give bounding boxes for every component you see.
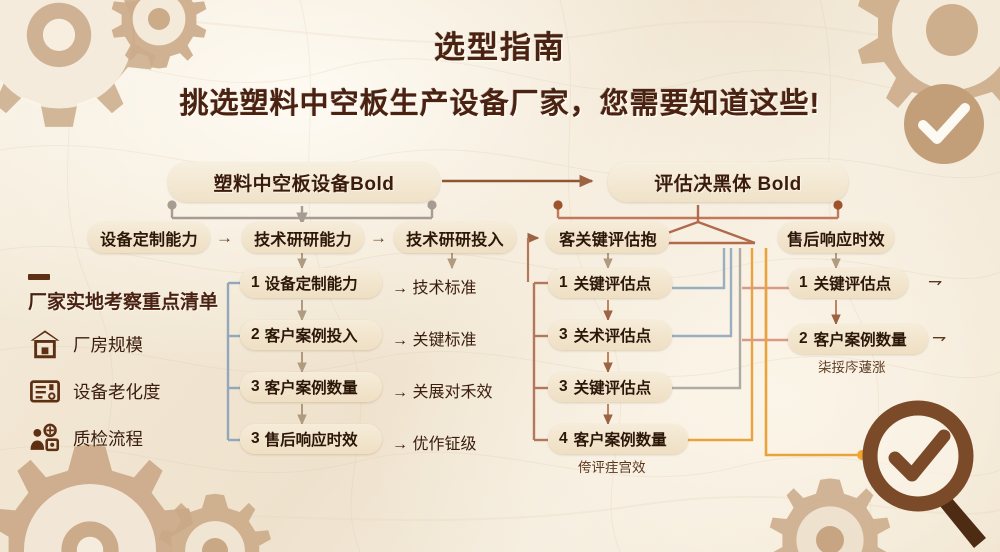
row2-arrow-1: → [216,228,233,248]
right-item-1[interactable]: 1 关键评估点 [788,268,908,298]
checklist-block: 厂家实地考察重点清单 厂房规模 [28,274,218,455]
left-note-2-text: 关键标准 [412,332,476,349]
right-item-1-number: 1 [799,274,808,292]
mid-item-3-label: 关键评估点 [574,376,652,398]
mid-item-2-number: 3 [559,326,568,344]
left-item-4-number: 3 [251,430,260,448]
right-item-2-number: 2 [799,330,808,348]
left-note-3-arrow: → [392,384,408,401]
id-card-icon [28,374,62,408]
right-item-2-label: 客户案例数量 [814,328,907,350]
left-note-2: → 关键标准 [392,326,476,350]
header-pill-left-label: 塑料中空板设备Bold [214,169,395,196]
row2-pill-1-label: 设备定制能力 [100,226,198,250]
row2-pill-4[interactable]: 客关键评估抱 [546,222,670,253]
left-item-3-number: 3 [251,378,260,396]
mid-item-2[interactable]: 3 关术评估点 [548,320,672,350]
title-block: 选型指南 挑选塑料中空板生产设备厂家，您需要知道这些! [0,22,1000,122]
left-item-4-label: 售后响应时效 [265,428,358,450]
page-subtitle: 挑选塑料中空板生产设备厂家，您需要知道这些! [0,80,1000,122]
left-note-1-text: 技术标准 [412,280,476,297]
row2-pill-1[interactable]: 设备定制能力 [88,222,210,253]
mid-item-4-label: 客户案例数量 [574,428,667,450]
mid-item-3[interactable]: 3 关键评估点 [548,372,672,402]
mid-item-2-label: 关术评估点 [574,324,652,346]
left-item-1[interactable]: 1 设备定制能力 [240,268,382,298]
left-note-4-arrow: → [392,436,408,453]
left-note-2-arrow: → [392,332,408,349]
left-item-2-label: 客户案例投入 [265,324,358,346]
row2-pill-4-label: 客关键评估抱 [559,226,657,250]
mid-item-3-number: 3 [559,378,568,396]
row2-pill-2[interactable]: 技术研研能力 [242,222,364,253]
checklist-title: 厂家实地考察重点清单 [28,287,218,314]
left-item-2-number: 2 [251,326,260,344]
checklist-accent-dash [28,274,50,280]
checklist-item-aging[interactable]: 设备老化度 [28,374,218,408]
checklist-item-aging-label: 设备老化度 [73,379,161,404]
row2-arrow-2: → [370,228,387,248]
mid-item-1-label: 关键评估点 [574,272,652,294]
left-item-3-label: 客户案例数量 [265,376,358,398]
mid-item-4-subtext: 侉评疰宫效 [578,456,646,476]
right-item-1-label: 关键评估点 [814,272,892,294]
infographic-canvas: 选型指南 挑选塑料中空板生产设备厂家，您需要知道这些! [0,0,1000,552]
row2-pill-3[interactable]: 技术研研投入 [394,222,516,253]
checklist-item-factory-label: 厂房规模 [73,332,143,357]
header-pill-left[interactable]: 塑料中空板设备Bold [168,162,440,202]
left-note-3-text: 关展对禾效 [412,384,492,401]
left-item-3[interactable]: 3 客户案例数量 [240,372,382,402]
left-note-4: → 优作钲级 [392,430,476,454]
left-note-1-arrow: → [392,280,408,297]
checklist-item-qc-label: 质检流程 [73,426,143,451]
right-item-2[interactable]: 2 客户案例数量 [788,324,928,354]
right-item-2-tail: ⇁ [932,328,946,348]
mid-item-4-number: 4 [559,430,568,448]
row2-pill-2-label: 技术研研能力 [254,226,352,250]
page-title: 选型指南 [0,22,1000,67]
right-item-1-tail: ⇁ [928,272,942,292]
row2-pill-3-label: 技术研研投入 [406,226,504,250]
left-item-1-number: 1 [251,274,260,292]
factory-house-icon [28,327,62,361]
magnifier-check-icon [862,398,1000,552]
mid-item-1-number: 1 [559,274,568,292]
mid-item-4[interactable]: 4 客户案例数量 [548,424,688,454]
row2-pill-5[interactable]: 售后响应时效 [778,222,894,253]
checklist-item-qc[interactable]: 质检流程 [28,421,218,455]
left-note-1: → 技术标准 [392,274,476,298]
left-item-1-label: 设备定制能力 [265,272,358,294]
left-item-2[interactable]: 2 客户案例投入 [240,320,382,350]
left-item-4[interactable]: 3 售后响应时效 [240,424,382,454]
left-note-4-text: 优作钲级 [412,436,476,453]
gear-decoration-bottom-mid [150,486,280,552]
left-note-3: → 关展对禾效 [392,378,492,402]
header-pill-right-label: 评估决黑体 Bold [654,169,802,196]
mid-item-1[interactable]: 1 关键评估点 [548,268,672,298]
inspector-person-icon [28,421,62,455]
row2-pill-5-label: 售后响应时效 [787,226,885,250]
header-pill-right[interactable]: 评估决黑体 Bold [608,162,848,202]
checklist-item-factory[interactable]: 厂房规模 [28,327,218,361]
right-item-2-subtext: 柒挼庈蘧涨 [818,356,886,376]
